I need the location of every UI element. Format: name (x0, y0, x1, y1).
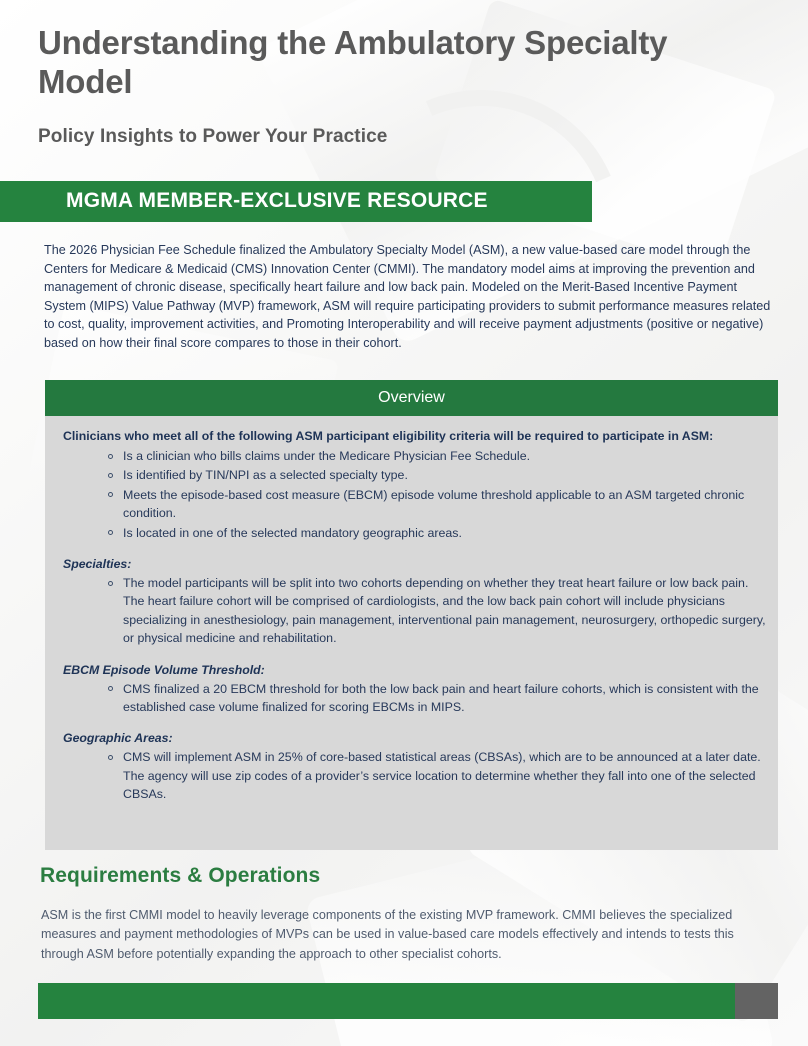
page-title: Understanding the Ambulatory Specialty M… (38, 23, 738, 101)
eligibility-group: Clinicians who meet all of the following… (57, 428, 766, 542)
document-page: Understanding the Ambulatory Specialty M… (0, 0, 808, 1046)
eligibility-list: Is a clinician who bills claims under th… (57, 447, 766, 542)
geographic-areas-group: Geographic Areas: CMS will implement ASM… (57, 730, 766, 803)
overview-content-box: Clinicians who meet all of the following… (45, 416, 778, 850)
overview-section-header-label: Overview (45, 380, 778, 416)
eligibility-lead-text: Clinicians who meet all of the following… (63, 428, 766, 445)
list-item: Is identified by TIN/NPI as a selected s… (107, 466, 766, 484)
overview-section-header: Overview (45, 380, 778, 416)
ebcm-threshold-group: EBCM Episode Volume Threshold: CMS final… (57, 662, 766, 717)
page-subtitle: Policy Insights to Power Your Practice (38, 126, 738, 148)
list-item: CMS finalized a 20 EBCM threshold for bo… (107, 680, 766, 717)
specialties-heading: Specialties: (63, 556, 766, 573)
geographic-areas-list: CMS will implement ASM in 25% of core-ba… (57, 748, 766, 803)
list-item: CMS will implement ASM in 25% of core-ba… (107, 748, 766, 803)
list-item: Is a clinician who bills claims under th… (107, 447, 766, 465)
member-exclusive-banner: MGMA MEMBER-EXCLUSIVE RESOURCE (0, 181, 592, 222)
list-item: Is located in one of the selected mandat… (107, 524, 766, 542)
requirements-section-body: ASM is the first CMMI model to heavily l… (41, 906, 771, 964)
member-exclusive-banner-label: MGMA MEMBER-EXCLUSIVE RESOURCE (66, 189, 488, 213)
specialties-group: Specialties: The model participants will… (57, 556, 766, 648)
specialties-list: The model participants will be split int… (57, 574, 766, 648)
geographic-areas-heading: Geographic Areas: (63, 730, 766, 747)
ebcm-threshold-list: CMS finalized a 20 EBCM threshold for bo… (57, 680, 766, 717)
intro-paragraph: The 2026 Physician Fee Schedule finalize… (44, 241, 774, 353)
list-item: Meets the episode-based cost measure (EB… (107, 486, 766, 523)
footer-accent-block (735, 983, 778, 1019)
requirements-section-heading: Requirements & Operations (40, 864, 320, 888)
footer-bar (38, 983, 778, 1019)
ebcm-threshold-heading: EBCM Episode Volume Threshold: (63, 662, 766, 679)
list-item: The model participants will be split int… (107, 574, 766, 648)
